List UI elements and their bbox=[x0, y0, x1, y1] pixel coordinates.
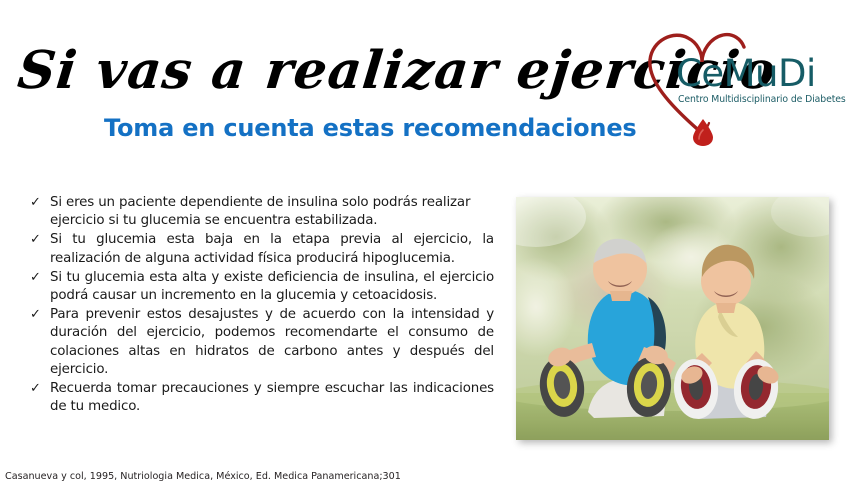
page-subtitle: Toma en cuenta estas recomendaciones bbox=[104, 114, 636, 142]
list-item: ✓ Si tu glucemia esta alta y existe defi… bbox=[26, 269, 494, 306]
list-item: ✓ Si eres un paciente dependiente de ins… bbox=[26, 194, 494, 231]
list-item: ✓ Recuerda tomar precauciones y siempre … bbox=[26, 380, 494, 417]
check-icon: ✓ bbox=[26, 231, 50, 249]
list-item-text: Para prevenir estos desajustes y de acue… bbox=[50, 306, 494, 380]
check-icon: ✓ bbox=[26, 194, 50, 212]
blood-drop-icon bbox=[689, 117, 717, 147]
list-item-text: Recuerda tomar precauciones y siempre es… bbox=[50, 380, 494, 417]
cemudi-logo: CeMuDi Centro Multidisciplinario de Diab… bbox=[640, 22, 845, 147]
list-item-text: Si eres un paciente dependiente de insul… bbox=[50, 194, 494, 231]
slide: Si vas a realizar ejercicio Toma en cuen… bbox=[0, 0, 850, 500]
recommendations-list: ✓ Si eres un paciente dependiente de ins… bbox=[26, 194, 494, 417]
list-item-text: Si tu glucemia esta baja en la etapa pre… bbox=[50, 231, 494, 268]
source-citation: Casanueva y col, 1995, Nutriologia Medic… bbox=[5, 470, 401, 483]
check-icon: ✓ bbox=[26, 306, 50, 324]
logo-tagline: Centro Multidisciplinario de Diabetes bbox=[678, 94, 846, 105]
check-icon: ✓ bbox=[26, 269, 50, 287]
list-item: ✓ Si tu glucemia esta baja en la etapa p… bbox=[26, 231, 494, 268]
list-item: ✓ Para prevenir estos desajustes y de ac… bbox=[26, 306, 494, 380]
exercise-photo bbox=[516, 197, 829, 440]
list-item-text: Si tu glucemia esta alta y existe defici… bbox=[50, 269, 494, 306]
check-icon: ✓ bbox=[26, 380, 50, 398]
logo-wordmark: CeMuDi bbox=[676, 54, 816, 94]
